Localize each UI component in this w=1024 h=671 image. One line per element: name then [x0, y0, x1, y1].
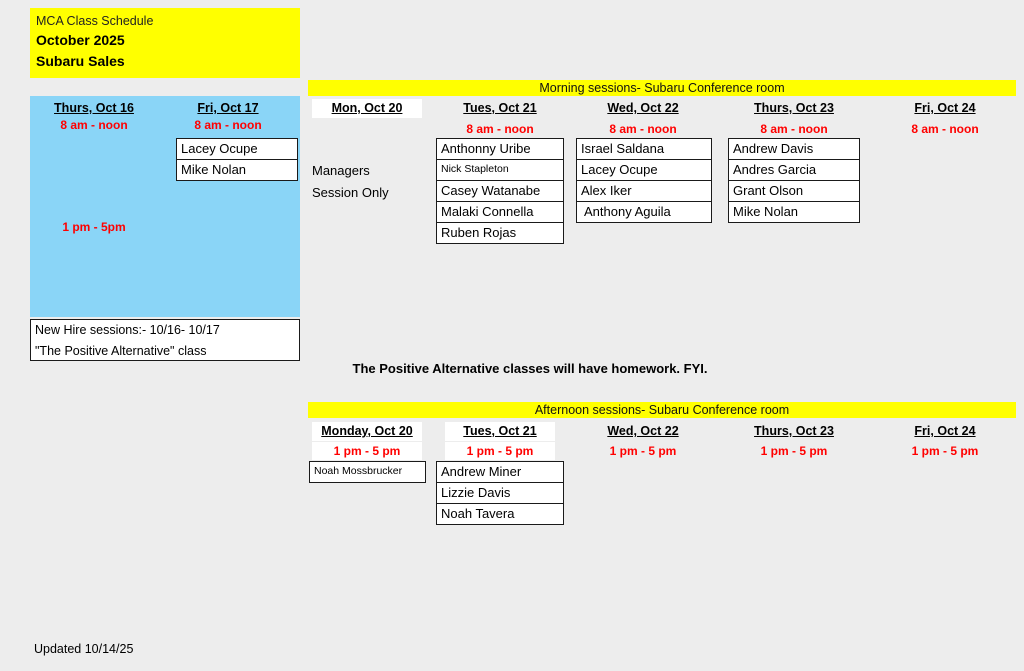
morning-sessions-band: Morning sessions- Subaru Conference room — [308, 80, 1016, 96]
afternoon-day-header-tues-oct-21: Tues, Oct 21 — [445, 422, 555, 441]
title-line-month: October 2025 — [36, 30, 300, 51]
list-item[interactable]: Noah Mossbrucker — [310, 462, 425, 482]
afternoon-time-tues-oct-21: 1 pm - 5 pm — [445, 442, 555, 460]
managers-note-line2: Session Only — [312, 182, 422, 204]
afternoon-time-monday-oct-20: 1 pm - 5 pm — [312, 442, 422, 460]
list-item[interactable]: Anthonny Uribe — [437, 139, 563, 160]
managers-session-note: Managers Session Only — [312, 160, 422, 204]
list-item[interactable]: Anthony Aguila — [577, 202, 711, 222]
morning-left-day-header-0: Thurs, Oct 16 8 am - noon — [30, 99, 158, 134]
list-item[interactable]: Noah Tavera — [437, 504, 563, 524]
afternoon-namebox-monday-oct-20[interactable]: Noah Mossbrucker — [309, 461, 426, 483]
list-item[interactable]: Israel Saldana — [577, 139, 711, 160]
morning-time-tues-oct-21: 8 am - noon — [445, 120, 555, 138]
morning-time-wed-oct-22: 8 am - noon — [588, 120, 698, 138]
list-item[interactable]: Andres Garcia — [729, 160, 859, 181]
morning-left-second-time: 1 pm - 5pm — [30, 220, 158, 234]
afternoon-day-header-wed-oct-22: Wed, Oct 22 — [588, 422, 698, 441]
list-item[interactable]: Grant Olson — [729, 181, 859, 202]
list-item[interactable]: Lizzie Davis — [437, 483, 563, 504]
list-item[interactable]: Mike Nolan — [729, 202, 859, 222]
managers-note-line1: Managers — [312, 160, 422, 182]
new-hire-note-line2: "The Positive Alternative" class — [35, 341, 299, 362]
title-line-subtitle: MCA Class Schedule — [36, 13, 300, 30]
list-item[interactable]: Andrew Davis — [729, 139, 859, 160]
morning-day-header-thurs-oct-23: Thurs, Oct 23 — [739, 99, 849, 118]
list-item[interactable]: Mike Nolan — [177, 160, 297, 180]
morning-day-header-wed-oct-22: Wed, Oct 22 — [588, 99, 698, 118]
list-item[interactable]: Lacey Ocupe — [577, 160, 711, 181]
afternoon-time-wed-oct-22: 1 pm - 5 pm — [588, 442, 698, 460]
morning-left-day-header-1: Fri, Oct 17 8 am - noon — [164, 99, 292, 134]
morning-time-thurs-oct-23: 8 am - noon — [739, 120, 849, 138]
list-item[interactable]: Alex Iker — [577, 181, 711, 202]
homework-note-text: The Positive Alternative classes will ha… — [353, 361, 708, 376]
list-item[interactable]: Nick Stapleton — [437, 160, 563, 181]
afternoon-day-header-monday-oct-20: Monday, Oct 20 — [312, 422, 422, 441]
new-hire-note-box: New Hire sessions:- 10/16- 10/17 "The Po… — [30, 319, 300, 361]
title-line-department: Subaru Sales — [36, 51, 300, 72]
afternoon-day-header-fri-oct-24: Fri, Oct 24 — [890, 422, 1000, 441]
morning-day-header-tues-oct-21: Tues, Oct 21 — [445, 99, 555, 118]
list-item[interactable]: Casey Watanabe — [437, 181, 563, 202]
new-hire-note-line1: New Hire sessions:- 10/16- 10/17 — [35, 320, 299, 341]
title-block: MCA Class Schedule October 2025 Subaru S… — [30, 8, 300, 78]
morning-namebox-tues-oct-21[interactable]: Anthonny Uribe Nick Stapleton Casey Wata… — [436, 138, 564, 244]
updated-timestamp: Updated 10/14/25 — [34, 642, 133, 656]
morning-namebox-thurs-oct-23[interactable]: Andrew Davis Andres Garcia Grant Olson M… — [728, 138, 860, 223]
homework-note: The Positive Alternative classes will ha… — [0, 361, 1024, 376]
afternoon-namebox-tues-oct-21[interactable]: Andrew Miner Lizzie Davis Noah Tavera — [436, 461, 564, 525]
afternoon-time-thurs-oct-23: 1 pm - 5 pm — [739, 442, 849, 460]
morning-namebox-wed-oct-22[interactable]: Israel Saldana Lacey Ocupe Alex Iker Ant… — [576, 138, 712, 223]
afternoon-time-fri-oct-24: 1 pm - 5 pm — [890, 442, 1000, 460]
morning-time-fri-oct-24: 8 am - noon — [890, 120, 1000, 138]
list-item[interactable]: Lacey Ocupe — [177, 139, 297, 160]
afternoon-day-header-thurs-oct-23: Thurs, Oct 23 — [739, 422, 849, 441]
morning-day-header-fri-oct-24: Fri, Oct 24 — [890, 99, 1000, 118]
list-item[interactable]: Ruben Rojas — [437, 223, 563, 243]
morning-day-header-mon-oct-20: Mon, Oct 20 — [312, 99, 422, 118]
list-item[interactable]: Malaki Connella — [437, 202, 563, 223]
list-item[interactable]: Andrew Miner — [437, 462, 563, 483]
afternoon-sessions-band: Afternoon sessions- Subaru Conference ro… — [308, 402, 1016, 418]
morning-namebox-fri-oct-17[interactable]: Lacey Ocupe Mike Nolan — [176, 138, 298, 181]
